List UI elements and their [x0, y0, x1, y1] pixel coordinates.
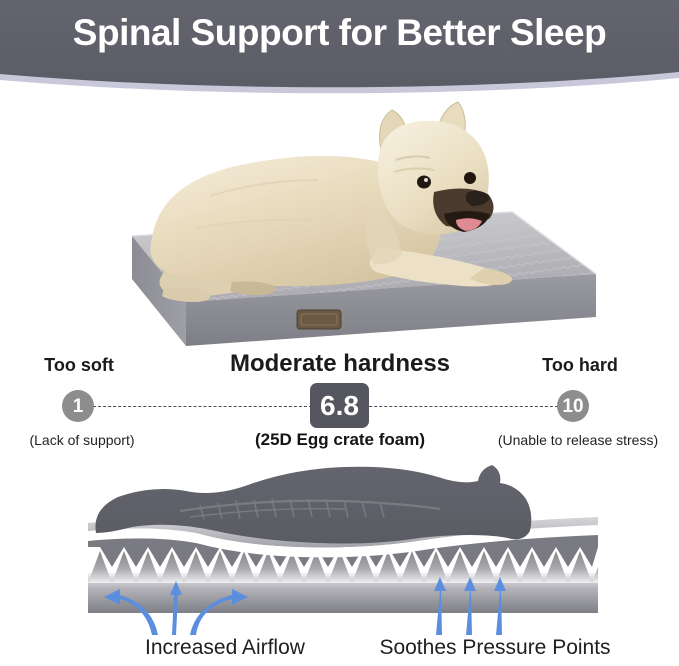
caption-soothes-pressure-points: Soothes Pressure Points: [355, 636, 635, 660]
hero-photo: [0, 88, 679, 358]
product-infographic: Spinal Support for Better Sleep: [0, 0, 679, 666]
brand-tag: [297, 310, 341, 329]
scale-marker-max: 10: [557, 390, 589, 422]
scale-label-too-soft: Too soft: [14, 355, 144, 376]
dog-eye-left: [417, 176, 431, 189]
dog-on-bed-illustration: [0, 88, 679, 358]
foam-diagram-graphic: [0, 455, 679, 635]
hardness-scale: Too soft Moderate hardness Too hard 1 6.…: [0, 352, 679, 456]
caption-increased-airflow: Increased Airflow: [110, 636, 340, 660]
diagram-captions: Increased Airflow Soothes Pressure Point…: [0, 636, 679, 666]
scale-label-too-hard: Too hard: [510, 355, 650, 376]
scale-sub-too-soft: (Lack of support): [2, 432, 162, 448]
scale-marker-min: 1: [62, 390, 94, 422]
scale-sub-moderate: (25D Egg crate foam): [204, 430, 476, 450]
scale-label-row: Too soft Moderate hardness Too hard: [0, 352, 679, 380]
header-banner: Spinal Support for Better Sleep: [0, 0, 679, 96]
page-title: Spinal Support for Better Sleep: [0, 12, 679, 54]
dog-eye-right: [464, 172, 476, 184]
scale-label-moderate: Moderate hardness: [204, 350, 476, 378]
scale-sub-too-hard: (Unable to release stress): [478, 432, 678, 448]
foam-cross-section-diagram: [0, 455, 679, 635]
scale-value-badge: 6.8: [310, 383, 369, 428]
dog-eye-highlight: [424, 178, 428, 182]
